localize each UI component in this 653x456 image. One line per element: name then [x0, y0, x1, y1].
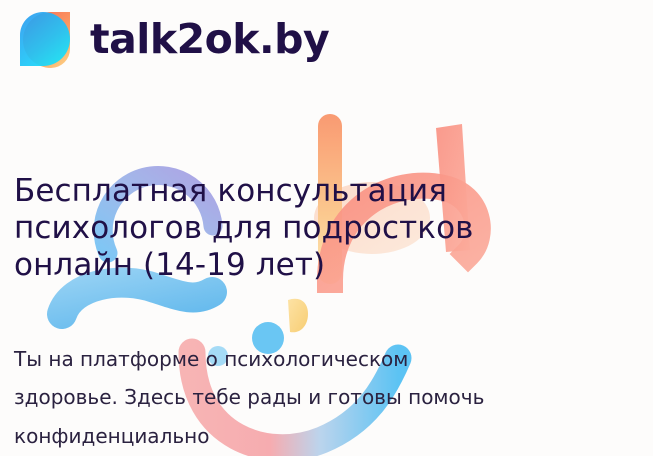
double-chat-bubble-icon	[14, 8, 76, 70]
light-blue-blob	[62, 283, 212, 314]
description-line-3: конфиденциально	[14, 417, 634, 455]
brand-wordmark: talk2ok.by	[90, 19, 329, 60]
brand-logo[interactable]: talk2ok.by	[14, 8, 329, 70]
hero-description: Ты на платформе о психологическом здоров…	[14, 340, 634, 455]
page-title: Бесплатная консультация психологов для п…	[14, 173, 644, 285]
description-line-1: Ты на платформе о психологическом	[14, 340, 634, 378]
landing-hero: talk2ok.by Бесплатная консультация психо…	[0, 0, 653, 456]
yellow-wedge	[288, 299, 308, 333]
headline-line-3: онлайн (14-19 лет)	[14, 247, 644, 284]
headline-line-1: Бесплатная консультация	[14, 173, 644, 210]
headline-line-2: психологов для подростков	[14, 210, 644, 247]
description-line-2: здоровье. Здесь тебе рады и готовы помоч…	[14, 378, 634, 416]
